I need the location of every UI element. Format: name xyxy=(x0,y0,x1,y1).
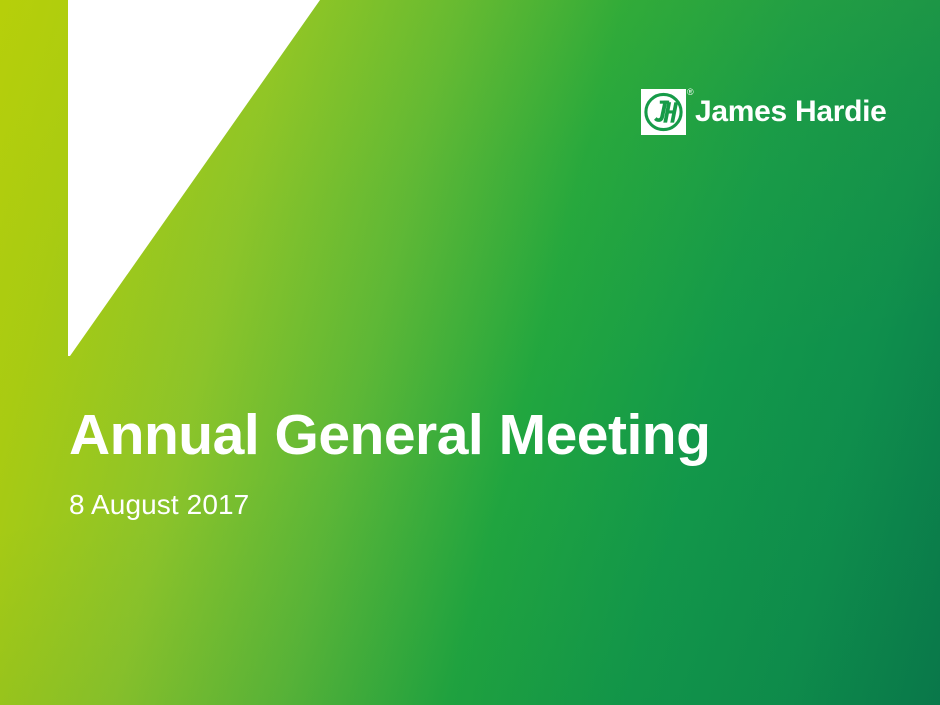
slide-title: Annual General Meeting xyxy=(69,404,869,466)
brand-wordmark: James Hardie xyxy=(695,97,887,127)
brand-wedge-graphic xyxy=(0,0,400,400)
registered-trademark-icon: ® xyxy=(687,88,694,97)
james-hardie-logo: ® James Hardie xyxy=(641,89,887,135)
title-block: Annual General Meeting 8 August 2017 xyxy=(69,404,869,522)
jh-monogram-icon: ® xyxy=(641,89,686,135)
presentation-slide: ® James Hardie Annual General Meeting 8 … xyxy=(0,0,940,705)
slide-subtitle-date: 8 August 2017 xyxy=(69,488,869,522)
